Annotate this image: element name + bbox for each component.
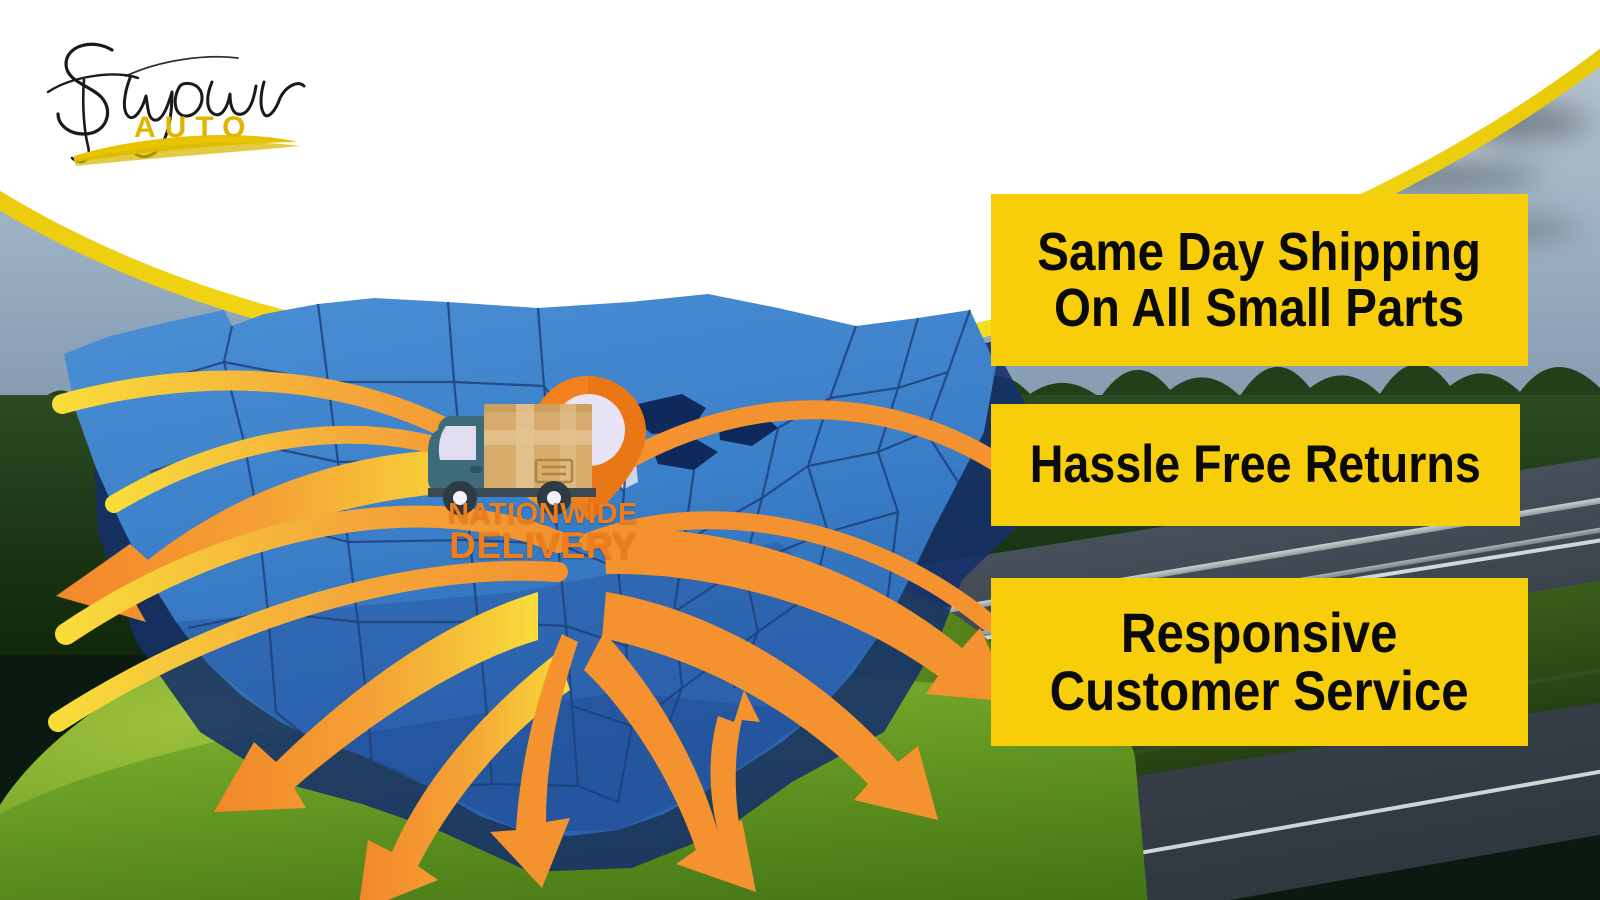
- delivery-line: DELIVERY: [408, 528, 678, 564]
- feature-banner-same-day-shipping[interactable]: Same Day Shipping On All Small Parts: [991, 194, 1528, 366]
- banner-1-line-2: On All Small Parts: [1054, 280, 1464, 336]
- brand-logo[interactable]: AUTO: [30, 24, 330, 169]
- banner-3-line-2: Customer Service: [1050, 662, 1469, 720]
- feature-banner-hassle-free-returns[interactable]: Hassle Free Returns: [991, 404, 1520, 526]
- feature-banner-responsive-customer-service[interactable]: Responsive Customer Service: [991, 578, 1528, 746]
- promo-banner-slide: AUTO: [0, 0, 1600, 900]
- banner-3-line-1: Responsive: [1121, 604, 1398, 662]
- nationwide-line: NATIONWIDE: [408, 500, 678, 528]
- svg-text:AUTO: AUTO: [134, 111, 254, 144]
- banner-1-line-1: Same Day Shipping: [1038, 224, 1482, 280]
- banner-2-line-1: Hassle Free Returns: [1030, 437, 1481, 492]
- nationwide-delivery-label: NATIONWIDE DELIVERY: [408, 500, 678, 565]
